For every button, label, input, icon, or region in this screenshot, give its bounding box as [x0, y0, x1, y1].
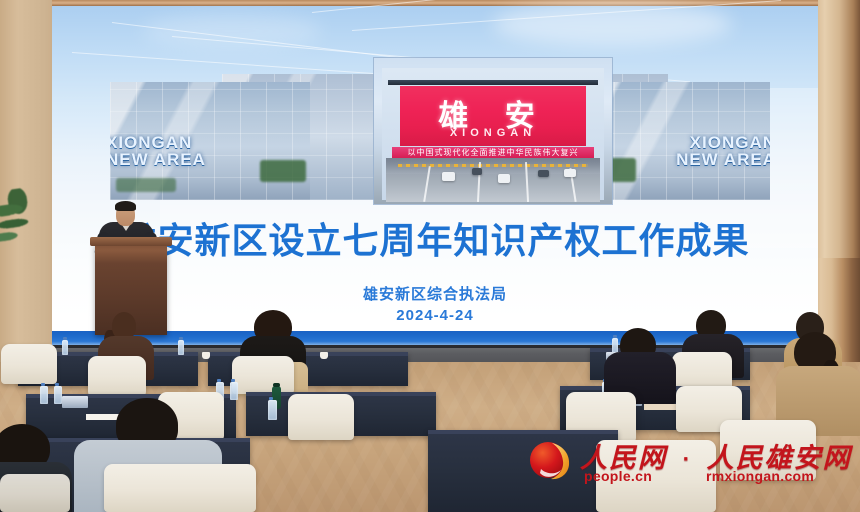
slide-photo-left-building: XIONGAN NEW AREA [110, 82, 310, 200]
tea-cup [202, 352, 210, 359]
water-bottle [54, 386, 62, 404]
tea-cup [320, 352, 328, 359]
slide-photo-right-building: XIONGAN NEW AREA [588, 82, 770, 200]
chair [0, 474, 70, 512]
chair [88, 356, 146, 396]
water-bottle [230, 382, 238, 400]
water-bottle [62, 340, 68, 355]
watermark-url-left: people.cn [584, 468, 652, 484]
chair [232, 356, 294, 394]
gateway-led-sign: 雄 安 XIONGAN [400, 86, 586, 146]
name-plate [62, 396, 88, 408]
gateway-banner-text: 以中国式现代化全面推进中华民族伟大复兴 [392, 147, 594, 158]
water-bottle [268, 400, 277, 420]
chair [1, 344, 57, 384]
potted-plant [0, 184, 56, 251]
water-bottle [40, 386, 48, 404]
watermark-url-right: rmxiongan.com [706, 468, 814, 484]
slide-photo-gateway: 雄 安 XIONGAN 以中国式现代化全面推进中华民族伟大复兴 [374, 58, 612, 204]
gateway-highway [386, 158, 600, 202]
water-bottle [178, 340, 184, 355]
chair [104, 464, 256, 512]
slide-right-building-label: XIONGAN NEW AREA [676, 134, 770, 169]
podium-top [90, 237, 172, 246]
watermark: 人民网 · 人民雄安网 people.cn rmxiongan.com [524, 434, 854, 496]
conference-photo: XIONGAN NEW AREA XIONGAN NEW AREA 雄 安 XI… [0, 0, 860, 512]
chair [288, 394, 354, 440]
slide-left-building-label: XIONGAN NEW AREA [110, 134, 206, 169]
people-daily-logo-icon [528, 438, 572, 482]
gateway-sign-en: XIONGAN [400, 127, 586, 139]
speaker-hair [115, 201, 136, 211]
water-bottle [612, 338, 618, 353]
